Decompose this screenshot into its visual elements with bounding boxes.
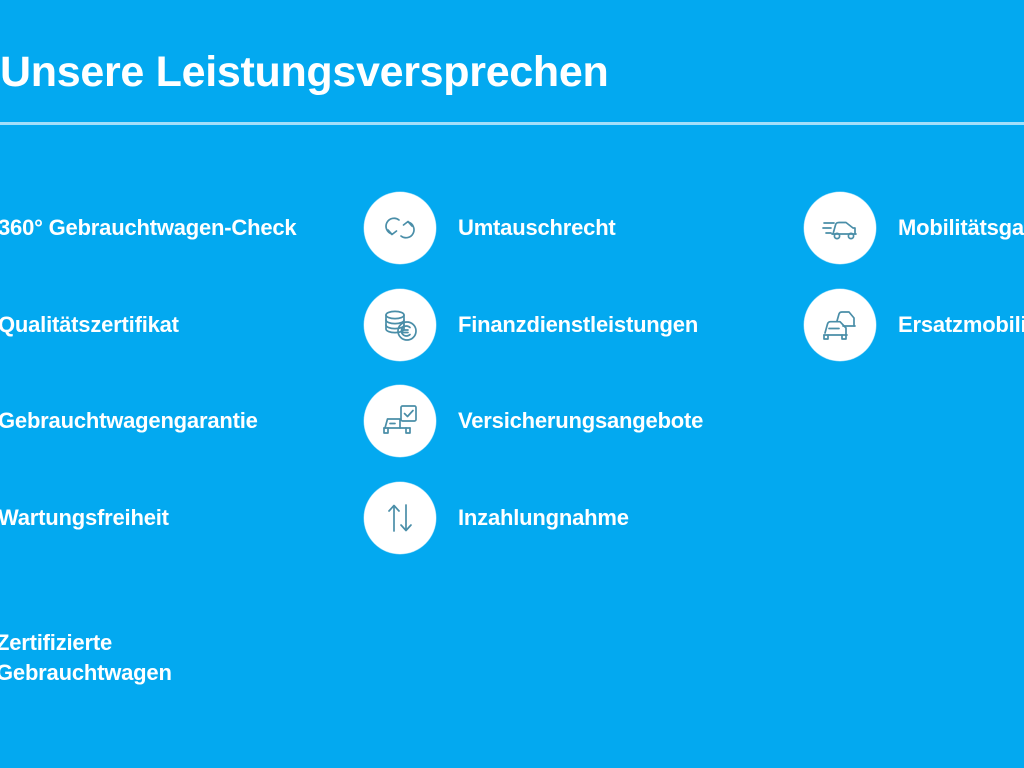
feature-item[interactable]: Ersatzmobilität [804,277,1024,374]
car-speed-icon [804,192,876,264]
feature-label: Finanzdienstleistungen [458,312,698,338]
feature-item[interactable]: Versicherungsangebote [364,373,804,470]
badge-line-1: Zertifizierte [0,628,172,658]
badge-line-2: Gebrauchtwagen [0,658,172,688]
feature-column-1: 360° Gebrauchtwagen-Check Qualitätszerti… [0,180,364,566]
feature-item[interactable]: Qualitätszertifikat [0,277,364,374]
slide-canvas: Unsere Leistungsversprechen 360° Gebrauc… [0,0,1024,768]
feature-item[interactable]: Umtauschrecht [364,180,804,277]
feature-label: Versicherungsangebote [458,408,703,434]
up-down-arrows-icon [364,482,436,554]
feature-label: 360° Gebrauchtwagen-Check [0,215,296,241]
exchange-arrows-icon [364,192,436,264]
feature-item[interactable]: Gebrauchtwagengarantie [0,373,364,470]
feature-item[interactable]: Mobilitätsgarantie [804,180,1024,277]
feature-label: Ersatzmobilität [898,312,1024,338]
feature-label: Inzahlungnahme [458,505,629,531]
feature-label: Qualitätszertifikat [0,312,179,338]
feature-columns: 360° Gebrauchtwagen-Check Qualitätszerti… [0,180,1024,566]
feature-label: Umtauschrecht [458,215,616,241]
feature-label: Gebrauchtwagengarantie [0,408,258,434]
page-title: Unsere Leistungsversprechen [0,48,1024,97]
feature-column-3: Mobilitätsgarantie Ersatzmobilität [804,180,1024,566]
feature-item[interactable]: Finanzdienstleistungen [364,277,804,374]
feature-item[interactable]: 360° Gebrauchtwagen-Check [0,180,364,277]
car-checkbox-icon [364,385,436,457]
feature-item[interactable]: Wartungsfreiheit [0,470,364,567]
header: Unsere Leistungsversprechen [0,48,1024,97]
title-divider [0,122,1024,125]
certified-used-cars-badge: Zertifizierte Gebrauchtwagen [0,628,172,688]
two-cars-icon [804,289,876,361]
feature-item[interactable]: Inzahlungnahme [364,470,804,567]
feature-label: Mobilitätsgarantie [898,215,1024,241]
feature-label: Wartungsfreiheit [0,505,169,531]
coins-euro-icon [364,289,436,361]
feature-column-2: Umtauschrecht Finanzdienstleistun [364,180,804,566]
